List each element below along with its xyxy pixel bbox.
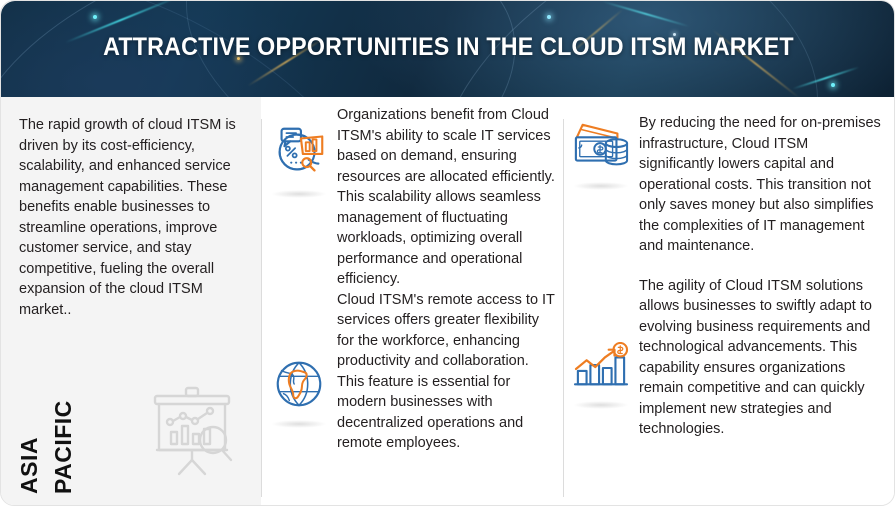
globe-icon bbox=[270, 355, 328, 428]
infographic-card: ATTRACTIVE OPPORTUNITIES IN THE CLOUD IT… bbox=[0, 0, 895, 506]
middle-block-2-paragraph: Cloud ITSM's remote access to IT service… bbox=[337, 290, 555, 454]
presentation-board-analytics-icon bbox=[139, 382, 243, 491]
region-watermark-line1: ASIA bbox=[16, 437, 43, 494]
growth-bar-chart-dollar-icon bbox=[563, 276, 639, 409]
banner-light-beam-5 bbox=[792, 66, 859, 90]
middle-column-icons bbox=[261, 105, 337, 506]
region-watermark-line2: PACIFIC bbox=[50, 400, 77, 494]
icon-shadow bbox=[271, 420, 327, 428]
icon-shadow bbox=[271, 190, 327, 198]
column-divider-right bbox=[563, 119, 564, 497]
right-block-2-paragraph: The agility of Cloud ITSM solutions allo… bbox=[639, 276, 882, 440]
icon-shadow bbox=[573, 401, 629, 409]
content-area: The rapid growth of cloud ITSM is driven… bbox=[1, 97, 895, 506]
header-banner: ATTRACTIVE OPPORTUNITIES IN THE CLOUD IT… bbox=[1, 1, 895, 97]
middle-column-text: Organizations benefit from Cloud ITSM's … bbox=[337, 105, 557, 506]
page-title: ATTRACTIVE OPPORTUNITIES IN THE CLOUD IT… bbox=[32, 33, 864, 62]
right-block-2: The agility of Cloud ITSM solutions allo… bbox=[563, 276, 882, 440]
banner-glow-dot-4 bbox=[831, 83, 835, 87]
banner-glow-dot-1 bbox=[93, 15, 97, 19]
banner-glow-dot-2 bbox=[547, 15, 551, 19]
analytics-chart-search-icon bbox=[268, 121, 330, 198]
middle-column: Organizations benefit from Cloud ITSM's … bbox=[261, 97, 563, 506]
money-cash-coins-icon bbox=[563, 113, 639, 190]
right-column: By reducing the need for on-premises inf… bbox=[563, 97, 895, 506]
left-column-paragraph: The rapid growth of cloud ITSM is driven… bbox=[19, 115, 241, 320]
right-block-1-paragraph: By reducing the need for on-premises inf… bbox=[639, 113, 882, 257]
region-watermark: ASIA PACIFIC bbox=[15, 369, 125, 499]
icon-shadow bbox=[573, 182, 629, 190]
middle-block-1-paragraph: Organizations benefit from Cloud ITSM's … bbox=[337, 105, 555, 290]
right-block-1: By reducing the need for on-premises inf… bbox=[563, 113, 882, 257]
left-column: The rapid growth of cloud ITSM is driven… bbox=[1, 97, 261, 506]
